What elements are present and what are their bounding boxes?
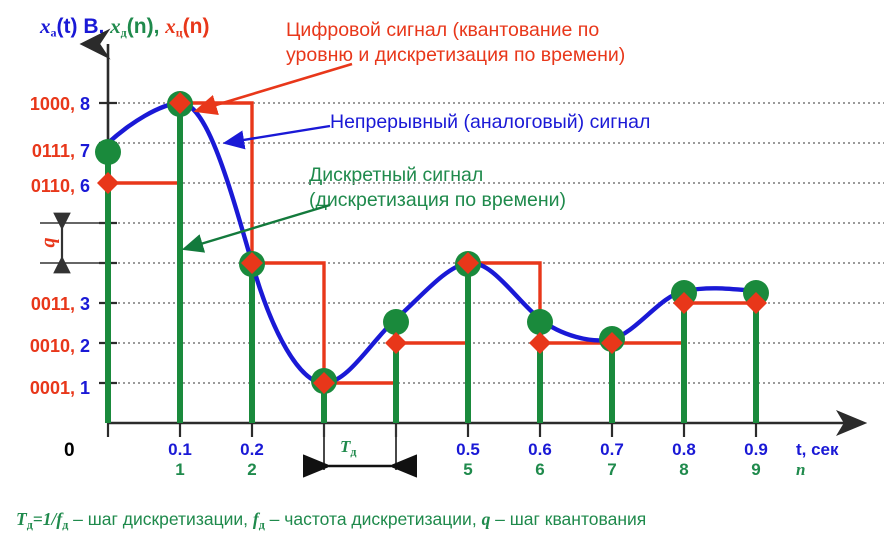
digital-sample-markers (97, 92, 767, 394)
signal-diagram: xa(t) В, xд(n), xц(n) Цифровой сигнал (к… (0, 0, 892, 554)
axes (108, 44, 862, 423)
discrete-sample-markers (95, 91, 769, 394)
x-ticks (108, 423, 756, 437)
plot-canvas (0, 0, 892, 554)
gridlines (108, 103, 884, 383)
leader-lines (184, 64, 352, 249)
quantization-step-bracket (40, 223, 108, 263)
sampling-period-bracket (324, 423, 396, 470)
